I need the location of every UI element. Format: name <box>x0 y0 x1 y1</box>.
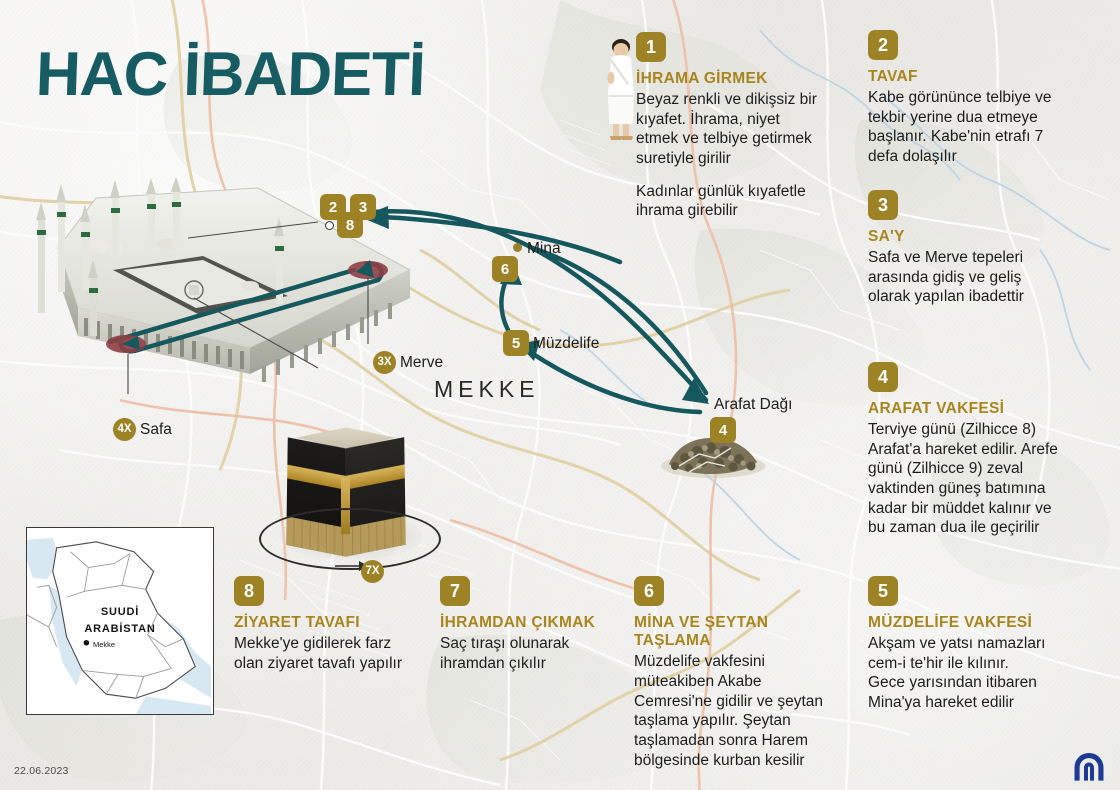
step-badge-2: 2 <box>868 30 898 60</box>
step-badge-5: 5 <box>868 576 898 606</box>
map-label-muzdelife: Müzdelife <box>533 336 599 352</box>
step-badge-3: 3 <box>868 190 898 220</box>
map-label-safa: Safa <box>140 422 172 438</box>
step-title-5: MÜZDELİFE VAKFESİ <box>868 614 1048 632</box>
locator-inset-map: SUUDİ ARABİSTAN Mekke <box>26 527 214 715</box>
step-title-2: TAVAF <box>868 68 1068 86</box>
step-title-1: İHRAMA GİRMEK <box>636 70 826 88</box>
date-stamp: 22.06.2023 <box>14 765 69 777</box>
mina-dot <box>513 243 522 252</box>
step-body-4: Terviye günü (Zilhicce 8) Arafat'a harek… <box>868 420 1073 538</box>
step-body-6: Müzdelife vakfesini müteakiben Akabe Cem… <box>634 652 834 770</box>
step-body-3: Safa ve Merve tepeleri arasında gidiş ve… <box>868 248 1058 307</box>
step-title-6: MİNA VE ŞEYTAN TAŞLAMA <box>634 614 834 650</box>
map-label-mina: Mina <box>527 241 561 257</box>
map-label-merve: Merve <box>400 355 443 371</box>
inset-country-line1: SUUDİ <box>27 606 213 620</box>
map-label-mekke: MEKKE <box>434 378 540 401</box>
step-block-2: 2 TAVAF Kabe görününce telbiye ve tekbir… <box>868 30 1068 167</box>
step-block-8: 8 ZİYARET TAVAFI Mekke'ye gidilerek farz… <box>234 576 409 673</box>
step-body-2: Kabe görününce telbiye ve tekbir yerine … <box>868 88 1068 167</box>
step-block-6: 6 MİNA VE ŞEYTAN TAŞLAMA Müzdelife vakfe… <box>634 576 834 770</box>
step-title-4: ARAFAT VAKFESİ <box>868 400 1073 418</box>
map-marker-5[interactable]: 5 <box>503 330 529 356</box>
step-body-1b: Kadınlar günlük kıyafetle ihrama girebil… <box>636 182 826 221</box>
aa-logo <box>1072 752 1106 782</box>
step-badge-7: 7 <box>440 576 470 606</box>
map-label-arafat: Arafat Dağı <box>714 397 792 413</box>
step-block-4: 4 ARAFAT VAKFESİ Terviye günü (Zilhicce … <box>868 362 1073 538</box>
step-body-5: Akşam ve yatsı namazları cem-i te'hir il… <box>868 634 1048 713</box>
inset-country-line2: ARABİSTAN <box>27 623 213 637</box>
inset-map-graphic <box>27 528 213 714</box>
step-badge-6: 6 <box>634 576 664 606</box>
map-marker-6[interactable]: 6 <box>492 256 518 282</box>
map-marker-3x[interactable]: 3X <box>373 351 396 374</box>
step-body-1: Beyaz renkli ve dikişsiz bir kıyafet. İh… <box>636 90 826 169</box>
step-title-7: İHRAMDAN ÇIKMAK <box>440 614 605 632</box>
step-block-3: 3 SA'Y Safa ve Merve tepeleri arasında g… <box>868 190 1058 307</box>
step-badge-8: 8 <box>234 576 264 606</box>
step-block-1: 1 İHRAMA GİRMEK Beyaz renkli ve dikişsiz… <box>636 32 826 221</box>
step-block-7: 7 İHRAMDAN ÇIKMAK Saç tıraşı olunarak ih… <box>440 576 605 673</box>
infographic-canvas: HAC İBADETİ MEKKE Mina 6 5 Müzdelife Ara… <box>0 0 1120 790</box>
step-title-8: ZİYARET TAVAFI <box>234 614 409 632</box>
step-body-8: Mekke'ye gidilerek farz olan ziyaret tav… <box>234 634 409 673</box>
map-marker-8[interactable]: 8 <box>337 212 363 238</box>
step-block-5: 5 MÜZDELİFE VAKFESİ Akşam ve yatsı namaz… <box>868 576 1048 713</box>
page-title: HAC İBADETİ <box>35 44 426 106</box>
map-marker-4[interactable]: 4 <box>710 417 736 443</box>
step-title-3: SA'Y <box>868 228 1058 246</box>
inset-city-label: Mekke <box>93 640 115 649</box>
step-badge-4: 4 <box>868 362 898 392</box>
map-anchor-dot <box>325 221 334 230</box>
kaaba-model <box>255 420 445 595</box>
step-badge-1: 1 <box>636 32 666 62</box>
map-marker-4x[interactable]: 4X <box>113 418 136 441</box>
step-body-7: Saç tıraşı olunarak ihramdan çıkılır <box>440 634 605 673</box>
